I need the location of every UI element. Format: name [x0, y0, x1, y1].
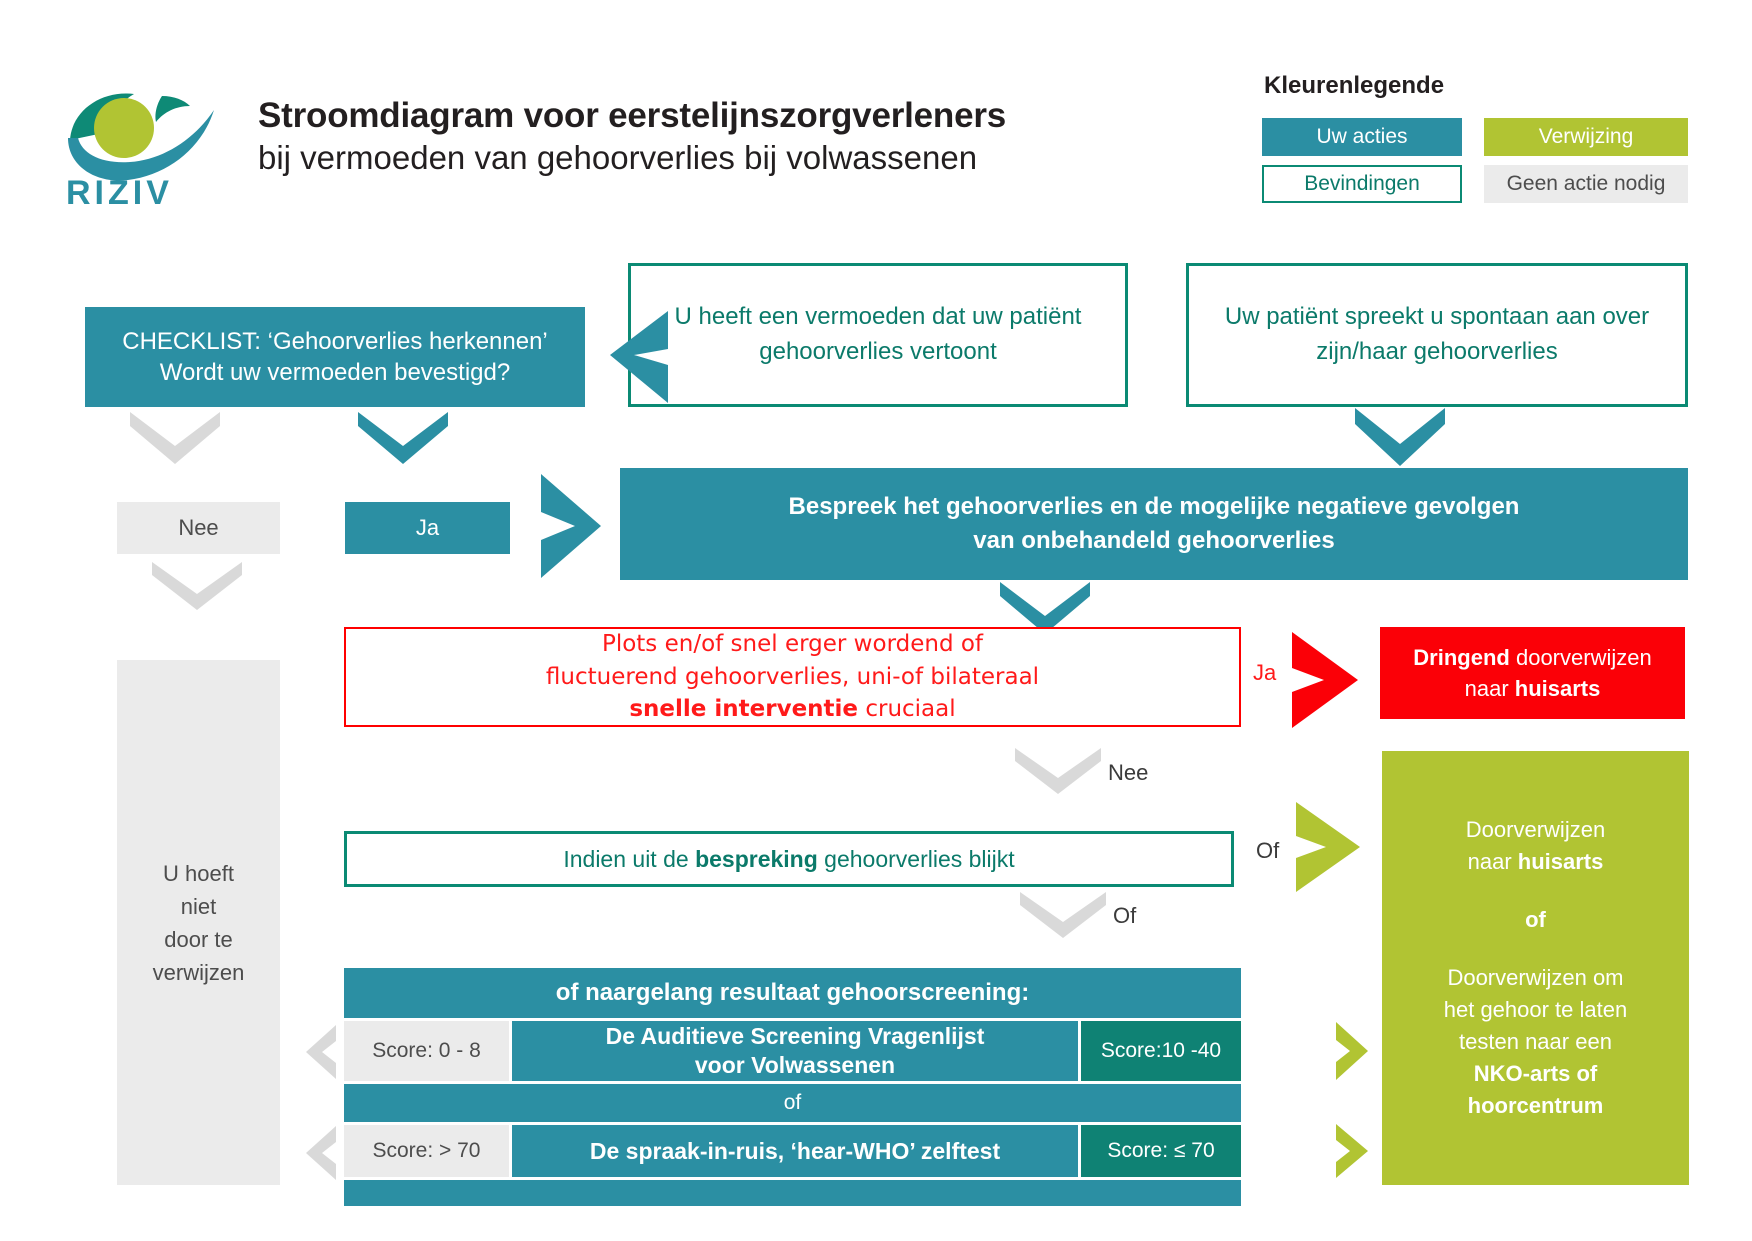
bespreek-line-2: van onbehandeld gehoorverlies	[789, 524, 1520, 558]
arrow-down-nee	[130, 412, 220, 473]
arrow-down-nee-2	[152, 562, 242, 619]
groen-line-2: naar huisarts	[1444, 846, 1627, 878]
node-dringend: Dringend doorverwijzen naar huisarts	[1380, 627, 1685, 719]
arrow-left-row2	[296, 1124, 342, 1187]
dringend-line-1: Dringend doorverwijzen	[1413, 642, 1651, 673]
ulinks-line-4: verwijzen	[153, 956, 245, 989]
legend-title: Kleurenlegende	[1264, 72, 1444, 100]
plots-line-2: fluctuerend gehoorverlies, uni-of bilate…	[546, 661, 1039, 694]
node-nee: Nee	[117, 502, 280, 554]
dringend-line2-pre: naar	[1465, 676, 1515, 701]
node-spontaan: Uw patiënt spreekt u spontaan aan over z…	[1186, 263, 1688, 407]
ulinks-line-1: U hoeft	[153, 857, 245, 890]
dringend-line-2: naar huisarts	[1413, 673, 1651, 704]
groen-of: of	[1444, 904, 1627, 936]
arrow-down-spontaan	[1355, 408, 1445, 475]
label-of-2: Of	[1113, 903, 1136, 929]
row2-score-left: Score: > 70	[344, 1125, 509, 1177]
legend-item-bevindingen: Bevindingen	[1262, 165, 1462, 203]
node-vermoeden: U heeft een vermoeden dat uw patiënt geh…	[628, 263, 1128, 407]
node-ja: Ja	[345, 502, 510, 554]
groen-line-1: Doorverwijzen	[1444, 814, 1627, 846]
label-nee-2: Nee	[1108, 760, 1148, 786]
checklist-line-2: Wordt uw vermoeden bevestigd?	[122, 357, 548, 388]
screening-row-1: Score: 0 - 8 De Auditieve Screening Vrag…	[344, 1021, 1241, 1081]
legend-item-geen-actie-nodig: Geen actie nodig	[1484, 165, 1688, 203]
vermoeden-line-2: gehoorverlies vertoont	[675, 335, 1082, 370]
title-line-1: Stroomdiagram voor eerstelijnszorgverlen…	[258, 95, 1178, 138]
row2-title: De spraak-in-ruis, ‘hear-WHO’ zelftest	[512, 1125, 1078, 1177]
row2-score-right: Score: ≤ 70	[1081, 1125, 1241, 1177]
arrow-right-row2-green	[1330, 1122, 1376, 1185]
title-line-2: bij vermoeden van gehoorverlies bij volw…	[258, 138, 1178, 178]
arrow-down-of	[1020, 892, 1106, 947]
plots-line-3-bold: snelle interventie	[629, 696, 858, 722]
arrow-right-green-top	[1292, 800, 1374, 899]
groen-line-7: hoorcentrum	[1444, 1090, 1627, 1122]
arrow-left-to-checklist	[590, 303, 670, 418]
groen-line2-bold: huisarts	[1518, 849, 1604, 874]
arrow-down-ja	[358, 412, 448, 473]
plots-line-3: snelle interventie cruciaal	[546, 693, 1039, 726]
row1-score-left: Score: 0 - 8	[344, 1021, 509, 1081]
arrow-right-red	[1288, 630, 1372, 735]
ulinks-line-2: niet	[153, 890, 245, 923]
row1-title-line-1: De Auditieve Screening Vragenlijst	[606, 1022, 985, 1051]
row1-score-right: Score:10 -40	[1081, 1021, 1241, 1081]
row1-title-line-2: voor Volwassenen	[606, 1051, 985, 1080]
legend-item-verwijzing: Verwijzing	[1484, 118, 1688, 156]
arrow-right-row1-green	[1330, 1020, 1376, 1087]
screening-footer-strip	[344, 1180, 1241, 1206]
plots-line-1: Plots en/of snel erger wordend of	[546, 628, 1039, 661]
screening-header: of naargelang resultaat gehoorscreening:	[344, 968, 1241, 1018]
screening-separator-of: of	[344, 1084, 1241, 1122]
plots-line-3-rest: cruciaal	[858, 696, 956, 722]
groen-line-3: Doorverwijzen om	[1444, 962, 1627, 994]
node-u-hoeft-niet-door-te-verwijzen: U hoeft niet door te verwijzen	[117, 660, 280, 1185]
legend-item-uw-acties: Uw acties	[1262, 118, 1462, 156]
indien-post: gehoorverlies blijkt	[818, 846, 1015, 872]
node-bespreek: Bespreek het gehoorverlies en de mogelij…	[620, 468, 1688, 580]
dringend-rest: doorverwijzen	[1510, 645, 1652, 670]
node-checklist: CHECKLIST: ‘Gehoorverlies herkennen’ Wor…	[85, 307, 585, 407]
ulinks-line-3: door te	[153, 923, 245, 956]
bespreek-line-1: Bespreek het gehoorverlies en de mogelij…	[789, 490, 1520, 524]
vermoeden-line-1: U heeft een vermoeden dat uw patiënt	[675, 300, 1082, 335]
dringend-bold: Dringend	[1413, 645, 1510, 670]
label-of-1: Of	[1256, 838, 1279, 864]
page-title: Stroomdiagram voor eerstelijnszorgverlen…	[258, 95, 1178, 178]
node-plots-red: Plots en/of snel erger wordend of fluctu…	[344, 627, 1241, 727]
label-ja-red: Ja	[1253, 660, 1276, 686]
arrow-down-nee-3	[1015, 748, 1101, 803]
indien-bold: bespreking	[695, 846, 818, 872]
spontaan-line-2: zijn/haar gehoorverlies	[1225, 335, 1649, 370]
dringend-line2-bold: huisarts	[1515, 676, 1601, 701]
arrow-left-row1	[296, 1023, 342, 1086]
screening-row-2: Score: > 70 De spraak-in-ruis, ‘hear-WHO…	[344, 1125, 1241, 1177]
arrow-right-ja-to-bespreek	[535, 470, 617, 587]
groen-line-5: testen naar een	[1444, 1026, 1627, 1058]
indien-pre: Indien uit de	[563, 846, 695, 872]
riziv-logo: RIZIV	[62, 62, 222, 202]
row1-title: De Auditieve Screening Vragenlijst voor …	[512, 1021, 1078, 1081]
node-indien: Indien uit de bespreking gehoorverlies b…	[344, 831, 1234, 887]
spontaan-line-1: Uw patiënt spreekt u spontaan aan over	[1225, 300, 1649, 335]
groen-line-4: het gehoor te laten	[1444, 994, 1627, 1026]
logo-wordmark: RIZIV	[66, 174, 173, 213]
groen-line-6: NKO-arts of	[1444, 1058, 1627, 1090]
checklist-line-1: CHECKLIST: ‘Gehoorverlies herkennen’	[122, 326, 548, 357]
node-doorverwijzen-groen: Doorverwijzen naar huisarts of Doorverwi…	[1382, 751, 1689, 1185]
groen-line2-pre: naar	[1468, 849, 1518, 874]
